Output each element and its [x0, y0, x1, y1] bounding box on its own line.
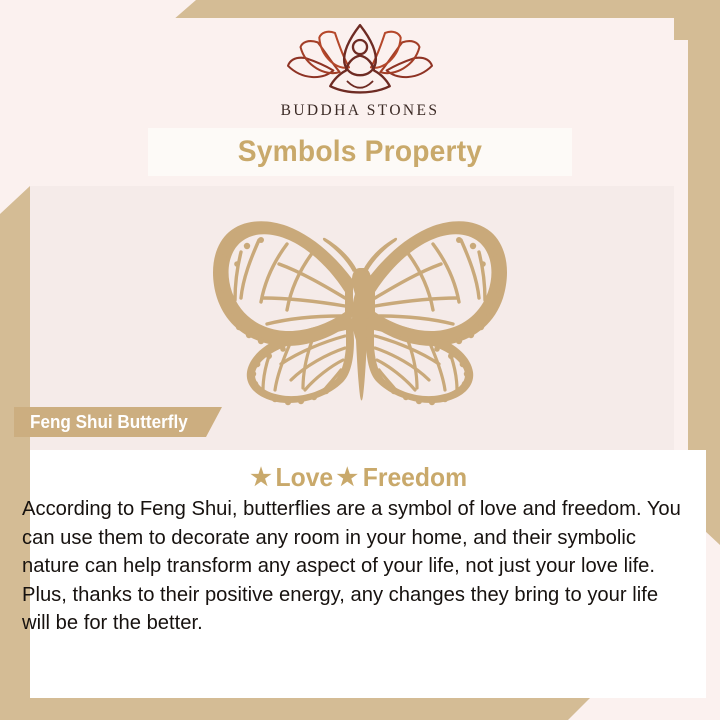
- section-heading: ★ Love ★ Freedom: [0, 462, 720, 493]
- title-banner: Symbols Property: [148, 128, 572, 176]
- star-icon-middle: ★: [336, 466, 358, 490]
- lotus-meditation-icon: [280, 22, 440, 94]
- heading-word-freedom: Freedom: [363, 462, 467, 493]
- feng-shui-butterfly-tag: Feng Shui Butterfly: [14, 407, 222, 437]
- tag-label: Feng Shui Butterfly: [30, 412, 188, 433]
- butterfly-illustration: [0, 206, 720, 406]
- butterfly-icon: [195, 206, 525, 406]
- brand-name: BUDDHA STONES: [281, 102, 440, 120]
- star-icon-left: ★: [250, 466, 272, 490]
- frame-bottom-band: [0, 698, 590, 720]
- description-paragraph: According to Feng Shui, butterflies are …: [22, 495, 684, 638]
- infographic-page: BUDDHA STONES Symbols Property: [0, 0, 720, 720]
- page-title: Symbols Property: [238, 135, 482, 169]
- brand-logo: BUDDHA STONES: [0, 22, 720, 120]
- heading-word-love: Love: [275, 462, 333, 493]
